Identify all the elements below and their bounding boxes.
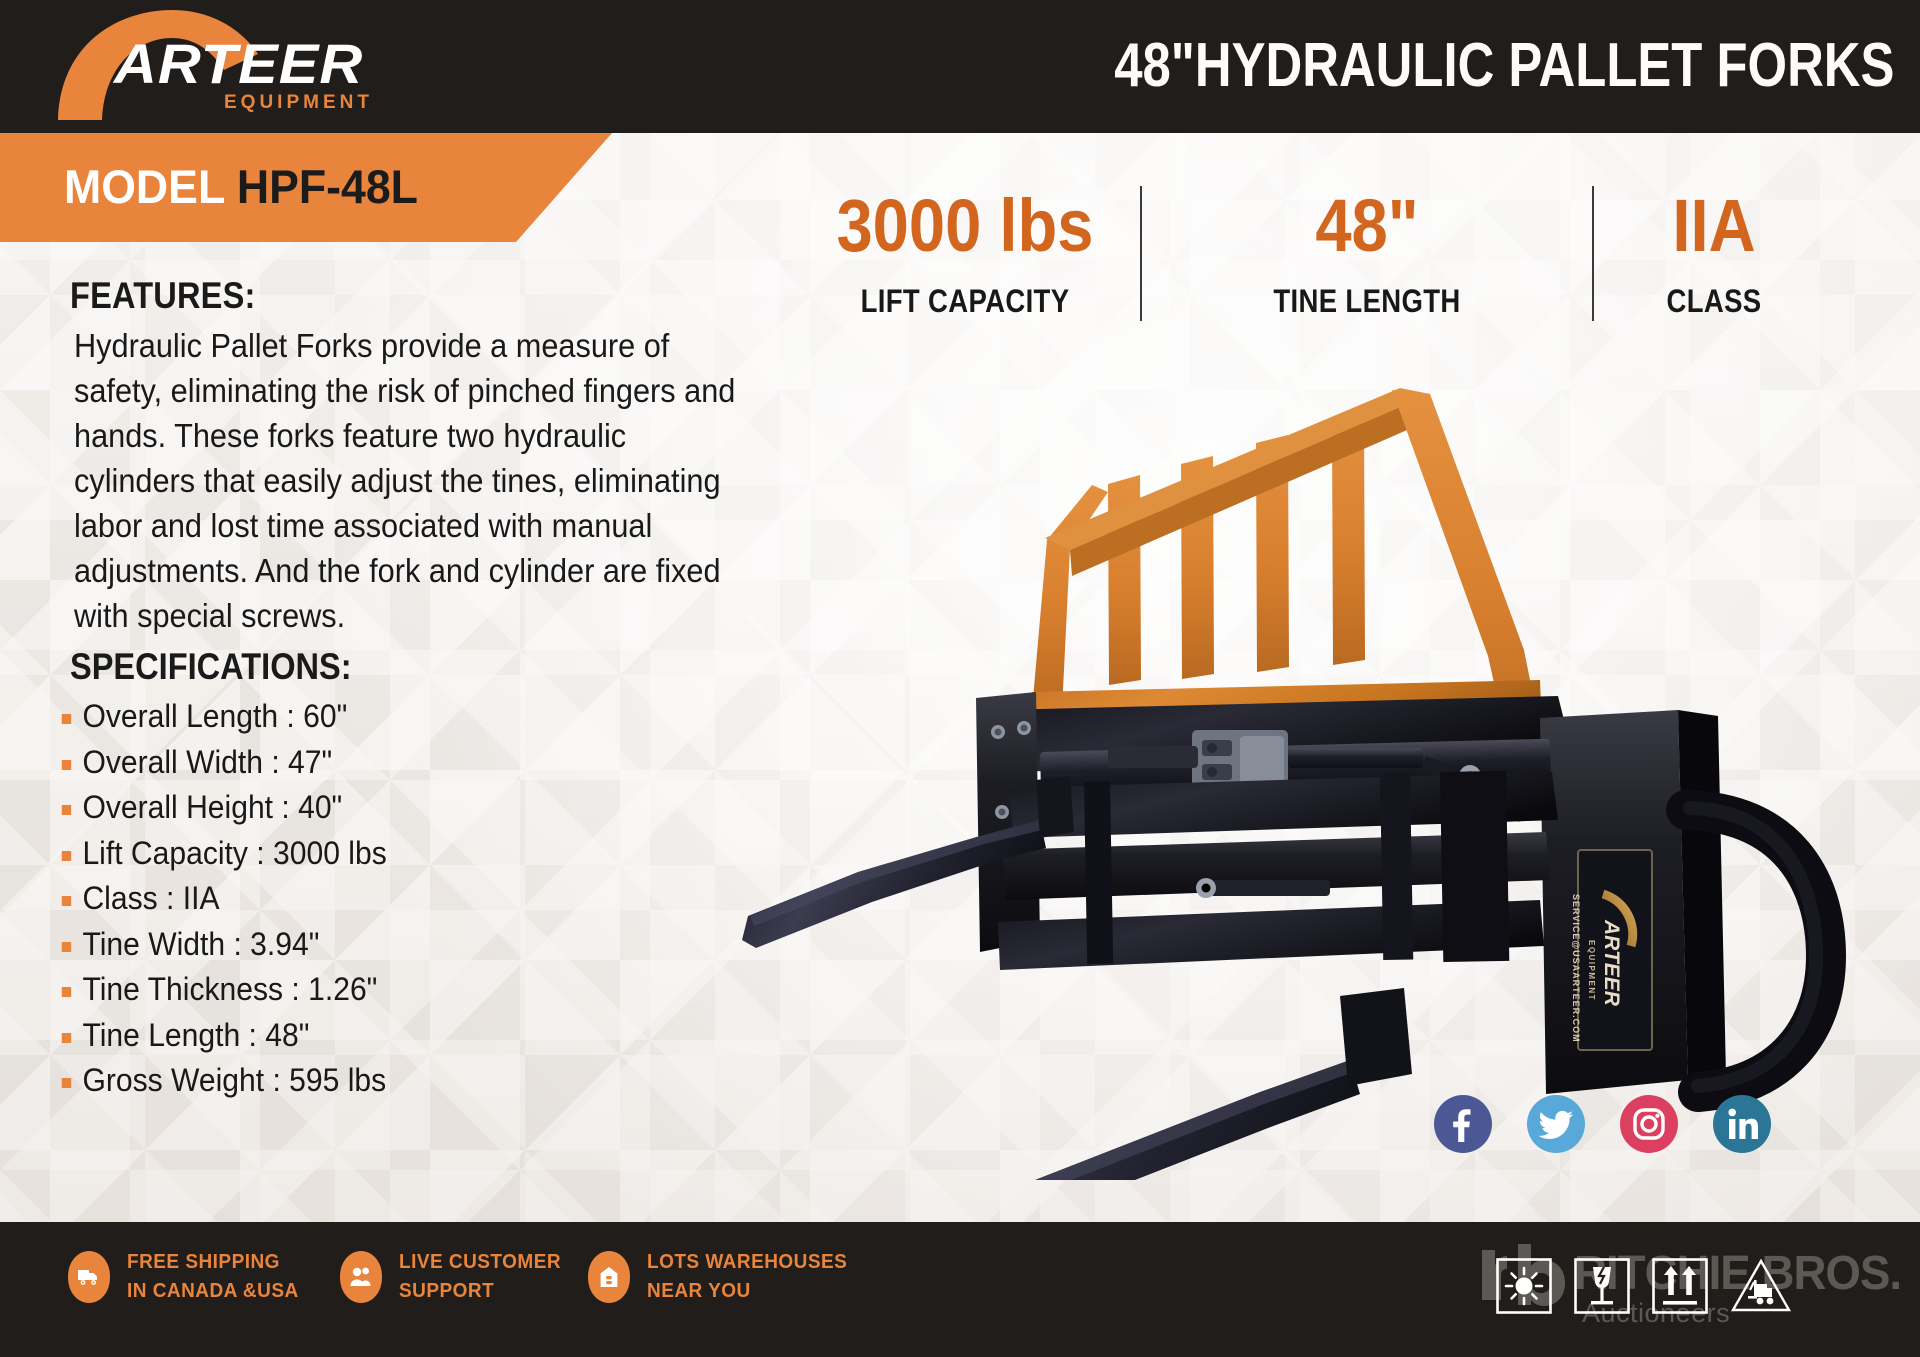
shipping-symbols (1496, 1258, 1792, 1314)
fragile-glass-icon (1574, 1258, 1630, 1314)
keep-dry-sun-icon (1496, 1258, 1552, 1314)
top-header-bar: ARTEER EQUIPMENT 48"HYDRAULIC PALLET FOR… (0, 0, 1920, 133)
instagram-glyph (1620, 1095, 1678, 1153)
product-image-hydraulic-pallet-forks: ARTEER EQUIPMENT SERVICE@USAARTEER.COM (740, 380, 1920, 1180)
spec-item: Tine Width : 3.94" (58, 922, 716, 968)
footer-feature-text: LOTS WAREHOUSES NEAR YOU (647, 1248, 847, 1306)
spec-item: Gross Weight : 595 lbs (58, 1058, 716, 1104)
brand-tagline: EQUIPMENT (224, 92, 373, 114)
linkedin-icon[interactable] (1713, 1095, 1771, 1153)
features-heading: FEATURES: (70, 275, 255, 317)
stat-value: IIA (1608, 180, 1819, 272)
twitter-glyph (1527, 1095, 1585, 1153)
this-way-up-icon (1652, 1258, 1708, 1314)
page-title: 48"HYDRAULIC PALLET FORKS (1114, 16, 1894, 116)
footer-feature-line2: IN CANADA &USA (127, 1277, 299, 1306)
spec-item: Overall Length : 60" (58, 694, 716, 740)
specifications-heading: SPECIFICATIONS: (70, 646, 352, 688)
footer-feature-text: FREE SHIPPING IN CANADA &USA (127, 1248, 299, 1306)
stat-label: CLASS (1611, 283, 1817, 320)
brand-logo: ARTEER EQUIPMENT (46, 8, 376, 126)
stat-label: TINE LENGTH (1174, 283, 1561, 320)
linkedin-glyph (1713, 1095, 1771, 1153)
specifications-list: Overall Length : 60" Overall Width : 47"… (58, 694, 758, 1104)
people-icon (340, 1251, 382, 1303)
spec-item: Overall Height : 40" (58, 785, 716, 831)
footer-feature-line1: LOTS WAREHOUSES (647, 1248, 847, 1277)
product-spec-sheet: ARTEER EQUIPMENT SERVICE@USAARTEER.COM (0, 0, 1920, 1357)
stat-value: 3000 lbs (811, 180, 1119, 272)
brand-name: ARTEER (114, 36, 363, 92)
features-body: Hydraulic Pallet Forks provide a measure… (74, 323, 742, 638)
stat-value: 48" (1169, 180, 1565, 272)
footer-feature-line1: FREE SHIPPING (127, 1248, 299, 1277)
ritchie-bros-watermark: RITCHIE BROS. Auctioneers (1470, 1236, 1900, 1348)
social-links (1434, 1095, 1771, 1153)
svg-text:SERVICE@USAARTEER.COM: SERVICE@USAARTEER.COM (1571, 894, 1581, 1043)
spec-item: Lift Capacity : 3000 lbs (58, 831, 716, 877)
facebook-glyph (1434, 1095, 1492, 1153)
footer-feature-line2: NEAR YOU (647, 1277, 847, 1306)
stat-tine-length: 48" TINE LENGTH (1142, 180, 1592, 320)
model-label: MODEL (64, 160, 224, 213)
facebook-icon[interactable] (1434, 1095, 1492, 1153)
stat-lift-capacity: 3000 lbs LIFT CAPACITY (790, 180, 1140, 320)
svg-text:ARTEER: ARTEER (1600, 919, 1623, 1007)
spec-item: Tine Length : 48" (58, 1013, 716, 1059)
model-value: HPF-48L (237, 160, 418, 213)
key-stats-row: 3000 lbs LIFT CAPACITY 48" TINE LENGTH I… (790, 180, 1890, 365)
spec-item: Tine Thickness : 1.26" (58, 967, 716, 1013)
spec-item: Overall Width : 47" (58, 740, 716, 786)
footer-feature-warehouses: LOTS WAREHOUSES NEAR YOU (588, 1248, 858, 1306)
twitter-icon[interactable] (1527, 1095, 1585, 1153)
spec-item: Class : IIA (58, 876, 716, 922)
truck-icon (68, 1251, 110, 1303)
stat-label: LIFT CAPACITY (815, 283, 1116, 320)
footer-feature-text: LIVE CUSTOMER SUPPORT (399, 1248, 561, 1306)
footer-feature-line1: LIVE CUSTOMER (399, 1248, 561, 1277)
svg-text:EQUIPMENT: EQUIPMENT (1587, 940, 1596, 1001)
warehouse-icon (588, 1251, 630, 1303)
fork-tines (742, 776, 1412, 1180)
stat-class: IIA CLASS (1594, 180, 1834, 320)
instagram-icon[interactable] (1620, 1095, 1678, 1153)
footer-bar: FREE SHIPPING IN CANADA &USA LIVE CUSTOM… (0, 1222, 1920, 1357)
footer-feature-line2: SUPPORT (399, 1277, 561, 1306)
footer-feature-live-support: LIVE CUSTOMER SUPPORT (340, 1248, 570, 1306)
product-nameplate: ARTEER EQUIPMENT SERVICE@USAARTEER.COM (1571, 850, 1652, 1050)
footer-feature-free-shipping: FREE SHIPPING IN CANADA &USA (68, 1248, 308, 1306)
forklift-warning-icon (1730, 1258, 1792, 1314)
model-banner: MODEL HPF-48L (0, 133, 612, 242)
